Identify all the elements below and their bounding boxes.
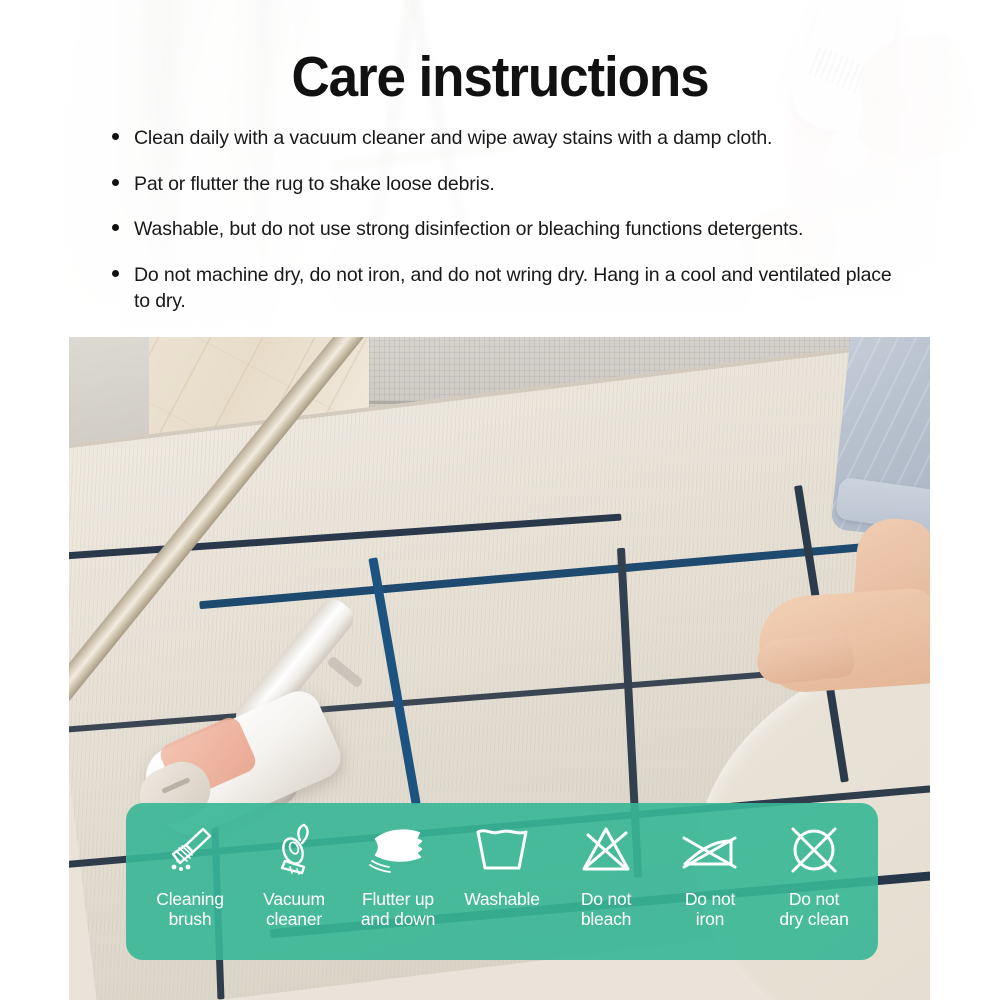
care-symbol-label: Flutter up and down <box>361 889 435 930</box>
care-symbol-label: Vacuum cleaner <box>263 889 325 930</box>
bullet-dot-icon <box>112 270 119 277</box>
care-symbols-bar: Cleaning brush Vacuum cleaner <box>126 803 878 960</box>
list-item: Do not machine dry, do not iron, and do … <box>112 262 902 315</box>
care-symbol-do-not-bleach: Do not bleach <box>554 803 658 930</box>
care-symbol-do-not-iron: Do not iron <box>658 803 762 930</box>
bullet-dot-icon <box>112 133 119 140</box>
page-title: Care instructions <box>35 44 965 110</box>
list-item-text: Do not machine dry, do not iron, and do … <box>134 264 892 313</box>
care-symbol-cleaning-brush: Cleaning brush <box>138 803 242 930</box>
care-symbol-do-not-dry-clean: Do not dry clean <box>762 803 866 930</box>
care-symbol-vacuum-cleaner: Vacuum cleaner <box>242 803 346 930</box>
bullet-dot-icon <box>112 179 119 186</box>
list-item-text: Pat or flutter the rug to shake loose de… <box>134 173 495 195</box>
care-instructions-page: Care instructions Clean daily with a vac… <box>0 0 1000 1000</box>
bullet-dot-icon <box>112 224 119 231</box>
list-item-text: Clean daily with a vacuum cleaner and wi… <box>134 127 772 149</box>
care-symbol-label: Do not iron <box>685 889 735 930</box>
do-not-iron-icon <box>680 817 740 883</box>
list-item: Clean daily with a vacuum cleaner and wi… <box>112 125 902 152</box>
care-symbol-label: Washable <box>464 889 540 909</box>
care-instruction-list: Clean daily with a vacuum cleaner and wi… <box>112 125 902 315</box>
vacuum-cleaner-icon <box>266 817 322 883</box>
list-item: Pat or flutter the rug to shake loose de… <box>112 171 902 198</box>
cleaning-brush-icon <box>162 817 218 883</box>
list-item: Washable, but do not use strong disinfec… <box>112 216 902 243</box>
care-symbol-flutter: Flutter up and down <box>346 803 450 930</box>
list-item-text: Washable, but do not use strong disinfec… <box>134 218 803 240</box>
do-not-bleach-icon <box>578 817 634 883</box>
do-not-dry-clean-icon <box>787 817 841 883</box>
care-symbol-label: Cleaning brush <box>156 889 223 930</box>
care-symbol-washable: Washable <box>450 803 554 909</box>
flutter-shake-icon <box>367 817 429 883</box>
care-symbol-label: Do not dry clean <box>779 889 848 930</box>
washable-tub-icon <box>473 817 531 883</box>
care-symbol-label: Do not bleach <box>581 889 631 930</box>
